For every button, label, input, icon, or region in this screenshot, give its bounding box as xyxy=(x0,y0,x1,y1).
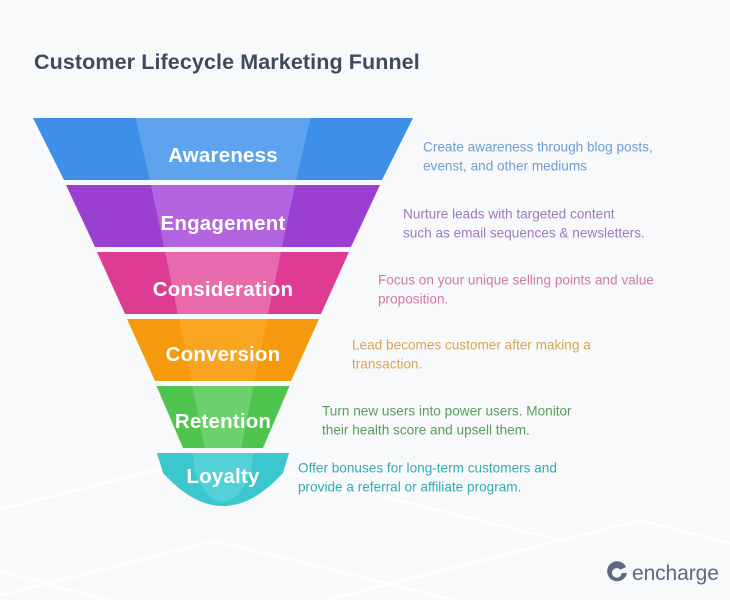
stage-label-consideration: Consideration xyxy=(153,278,293,302)
brand-wordmark: encharge xyxy=(632,563,719,584)
stage-description-retention: Turn new users into power users. Monitor… xyxy=(322,402,572,441)
stage-description-consideration: Focus on your unique selling points and … xyxy=(378,271,654,310)
stage-label-conversion: Conversion xyxy=(166,343,281,367)
stage-description-loyalty: Offer bonuses for long-term customers an… xyxy=(298,459,557,498)
stage-label-loyalty: Loyalty xyxy=(186,465,259,489)
stage-label-engagement: Engagement xyxy=(160,212,285,236)
brand-logo: encharge xyxy=(604,560,719,586)
stage-label-awareness: Awareness xyxy=(168,144,278,168)
funnel-infographic: Customer Lifecycle Marketing Funnel Awar… xyxy=(0,0,730,600)
stage-description-engagement: Nurture leads with targeted content such… xyxy=(403,205,645,244)
stage-description-conversion: Lead becomes customer after making a tra… xyxy=(352,336,591,375)
encharge-circle-arrow-icon xyxy=(604,560,630,586)
stage-label-retention: Retention xyxy=(175,410,271,434)
stage-description-awareness: Create awareness through blog posts, eve… xyxy=(423,138,653,177)
